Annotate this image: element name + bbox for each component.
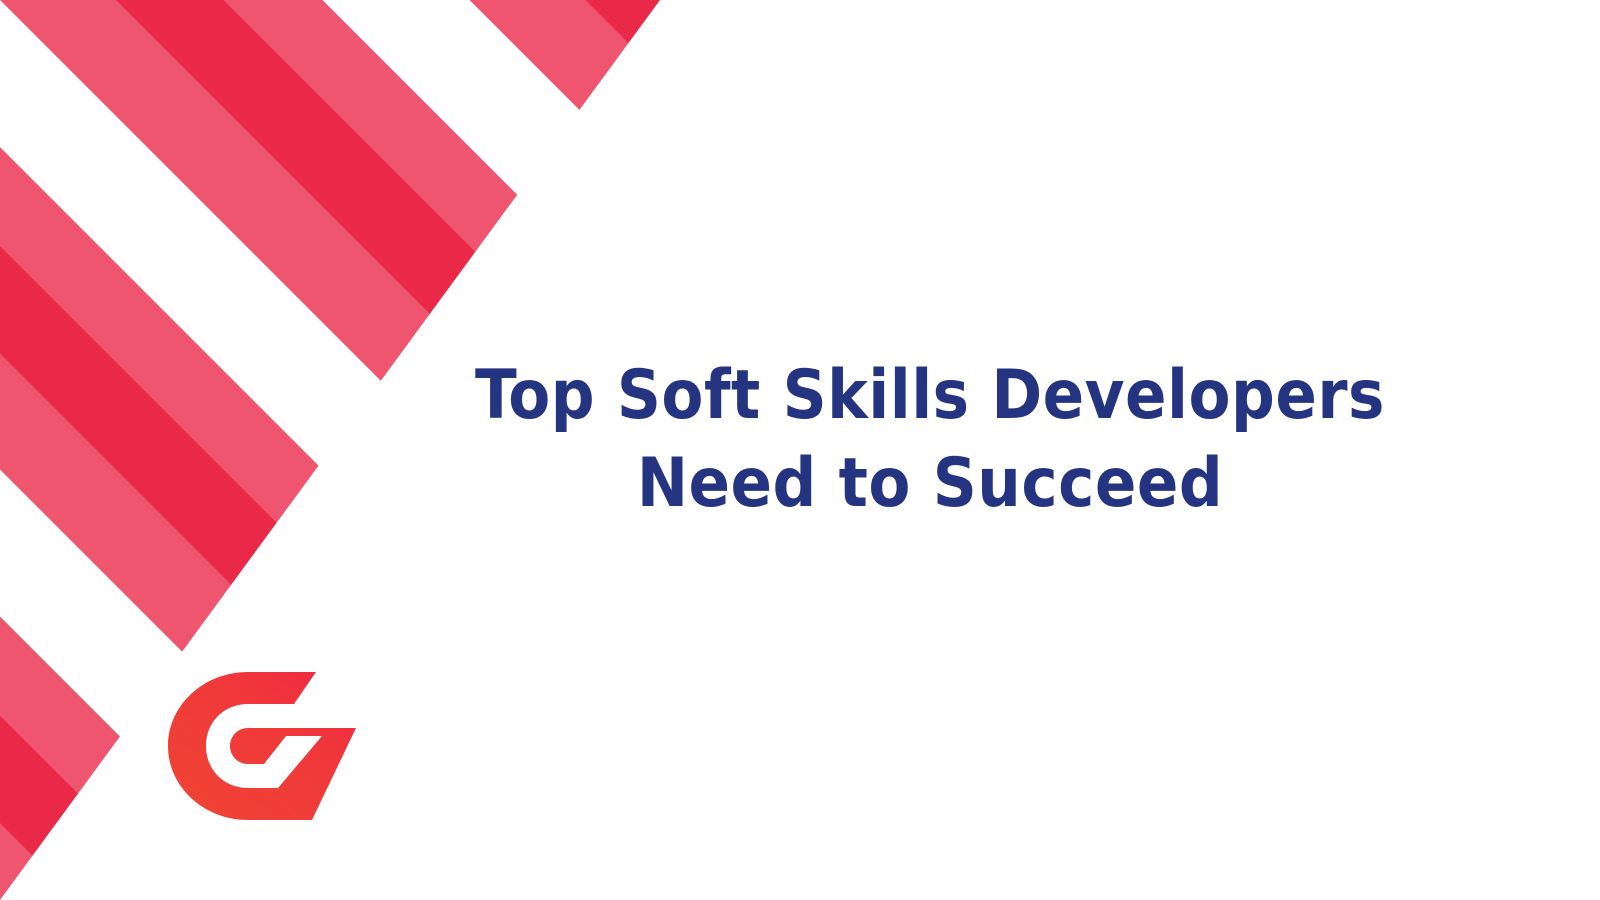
brand-logo	[160, 640, 360, 820]
brand-logo-g-icon	[160, 640, 360, 820]
title-line-2: Need to Succeed	[440, 440, 1420, 528]
title-card: Top Soft Skills Developers Need to Succe…	[0, 0, 1600, 900]
title-line-1: Top Soft Skills Developers	[440, 352, 1420, 440]
page-title: Top Soft Skills Developers Need to Succe…	[440, 352, 1420, 528]
